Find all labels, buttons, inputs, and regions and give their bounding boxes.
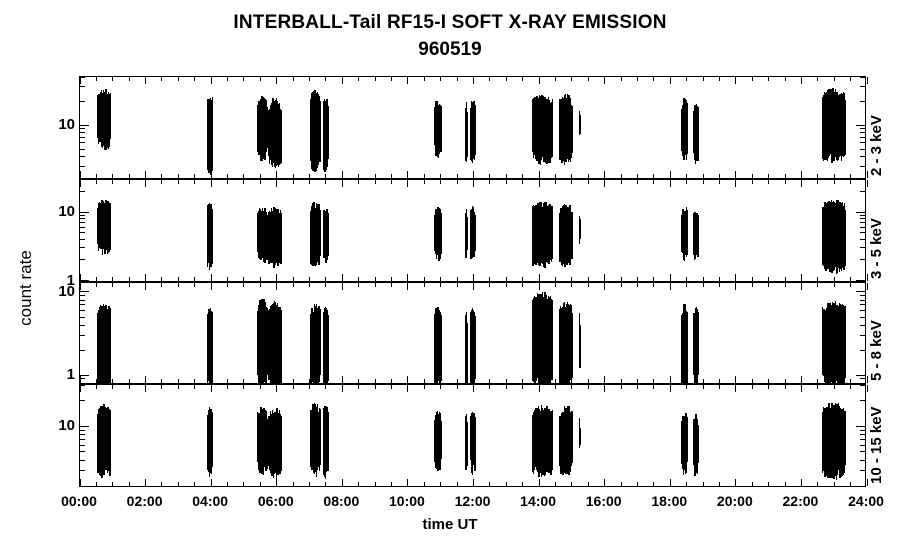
- x-minor-tick: [161, 379, 162, 383]
- x-minor-tick: [785, 77, 786, 81]
- x-major-tick: [539, 77, 540, 84]
- x-minor-tick: [243, 180, 244, 184]
- x-minor-tick: [309, 277, 310, 281]
- x-minor-tick: [522, 77, 523, 81]
- x-major-tick: [80, 171, 81, 178]
- x-minor-tick: [424, 385, 425, 389]
- x-major-tick: [670, 77, 671, 84]
- x-major-tick: [801, 283, 802, 290]
- x-minor-tick: [588, 283, 589, 287]
- x-major-tick: [211, 376, 212, 383]
- data-burst-core: [824, 415, 843, 457]
- x-major-tick: [407, 385, 408, 392]
- data-burst-core: [561, 106, 571, 145]
- x-major-tick: [735, 385, 736, 392]
- y-minor-tick: [860, 295, 865, 296]
- x-minor-tick: [489, 482, 490, 486]
- x-minor-tick: [178, 385, 179, 389]
- y-minor-tick: [80, 101, 85, 102]
- x-tick-label: 14:00: [520, 493, 556, 509]
- x-major-tick: [407, 180, 408, 187]
- x-minor-tick: [96, 482, 97, 486]
- x-minor-tick: [129, 277, 130, 281]
- y-minor-tick: [80, 385, 85, 386]
- y-minor-tick: [860, 232, 865, 233]
- y-major-tick: [856, 212, 865, 213]
- x-minor-tick: [391, 277, 392, 281]
- x-minor-tick: [555, 174, 556, 178]
- x-minor-tick: [686, 174, 687, 178]
- x-major-tick: [145, 171, 146, 178]
- x-minor-tick: [260, 277, 261, 281]
- data-sample: [571, 106, 572, 152]
- x-minor-tick: [96, 283, 97, 287]
- x-minor-tick: [555, 77, 556, 81]
- x-major-tick: [145, 274, 146, 281]
- data-sample: [571, 411, 572, 463]
- x-minor-tick: [621, 180, 622, 184]
- panel-3to5kev: 1103 - 5 keV: [79, 179, 866, 282]
- y-minor-tick: [80, 239, 85, 240]
- data-sample: [110, 96, 111, 137]
- x-major-tick: [276, 479, 277, 486]
- data-burst-core: [579, 119, 580, 120]
- x-minor-tick: [161, 277, 162, 281]
- x-minor-tick: [243, 77, 244, 81]
- x-minor-tick: [506, 379, 507, 383]
- x-minor-tick: [506, 482, 507, 486]
- x-minor-tick: [834, 174, 835, 178]
- x-major-tick: [276, 77, 277, 84]
- x-minor-tick: [227, 283, 228, 287]
- x-minor-tick: [686, 277, 687, 281]
- x-minor-tick: [161, 283, 162, 287]
- x-minor-tick: [686, 379, 687, 383]
- x-minor-tick: [686, 180, 687, 184]
- data-sample: [280, 416, 281, 471]
- x-minor-tick: [703, 379, 704, 383]
- x-minor-tick: [325, 385, 326, 389]
- energy-band-label: 2 - 3 keV: [868, 115, 885, 176]
- data-burst-core: [694, 114, 698, 144]
- x-minor-tick: [752, 77, 753, 81]
- y-minor-tick: [80, 451, 85, 452]
- x-minor-tick: [260, 283, 261, 287]
- data-sample: [552, 99, 553, 151]
- x-major-tick: [670, 171, 671, 178]
- y-major-tick: [856, 125, 865, 126]
- y-minor-tick: [80, 247, 85, 248]
- data-sample: [320, 309, 321, 376]
- x-minor-tick: [112, 283, 113, 287]
- y-minor-tick: [80, 378, 85, 379]
- x-major-tick: [407, 77, 408, 84]
- x-minor-tick: [834, 385, 835, 389]
- x-minor-tick: [391, 77, 392, 81]
- x-minor-tick: [719, 77, 720, 81]
- x-minor-tick: [719, 283, 720, 287]
- x-minor-tick: [703, 174, 704, 178]
- panel-2to3kev: 102 - 3 keV: [79, 76, 866, 179]
- y-minor-tick: [860, 215, 865, 216]
- x-major-tick: [801, 376, 802, 383]
- x-minor-tick: [260, 385, 261, 389]
- y-minor-tick: [860, 259, 865, 260]
- y-minor-tick: [860, 304, 865, 305]
- y-minor-tick: [860, 86, 865, 87]
- x-minor-tick: [489, 283, 490, 287]
- x-minor-tick: [850, 482, 851, 486]
- x-major-tick: [604, 180, 605, 187]
- x-minor-tick: [817, 379, 818, 383]
- x-minor-tick: [129, 385, 130, 389]
- data-burst-core: [534, 211, 551, 250]
- panel-canvas: [80, 283, 865, 384]
- x-minor-tick: [506, 180, 507, 184]
- x-minor-tick: [424, 174, 425, 178]
- x-major-tick: [604, 376, 605, 383]
- x-minor-tick: [834, 283, 835, 287]
- data-burst-core: [311, 101, 319, 152]
- data-burst-core: [323, 319, 328, 368]
- x-minor-tick: [785, 180, 786, 184]
- x-tick-label: 24:00: [848, 493, 884, 509]
- x-minor-tick: [817, 77, 818, 81]
- y-minor-tick: [80, 335, 85, 336]
- x-major-tick: [473, 171, 474, 178]
- data-sample: [579, 219, 580, 239]
- x-minor-tick: [358, 482, 359, 486]
- x-minor-tick: [424, 180, 425, 184]
- y-minor-tick: [860, 350, 865, 351]
- x-minor-tick: [293, 180, 294, 184]
- x-minor-tick: [161, 482, 162, 486]
- x-major-tick: [80, 385, 81, 392]
- x-tick-label: 04:00: [192, 493, 228, 509]
- x-minor-tick: [457, 379, 458, 383]
- x-minor-tick: [850, 385, 851, 389]
- figure-title: INTERBALL-Tail RF15-I SOFT X-RAY EMISSIO…: [0, 10, 900, 64]
- x-minor-tick: [506, 283, 507, 287]
- x-minor-tick: [375, 482, 376, 486]
- x-minor-tick: [621, 482, 622, 486]
- x-minor-tick: [309, 283, 310, 287]
- x-minor-tick: [391, 283, 392, 287]
- x-major-tick: [539, 283, 540, 290]
- x-minor-tick: [719, 385, 720, 389]
- x-minor-tick: [129, 180, 130, 184]
- x-minor-tick: [194, 385, 195, 389]
- x-minor-tick: [506, 77, 507, 81]
- data-sample: [280, 310, 281, 383]
- x-major-tick: [539, 274, 540, 281]
- x-minor-tick: [621, 277, 622, 281]
- x-minor-tick: [375, 379, 376, 383]
- x-major-tick: [867, 283, 868, 290]
- x-major-tick: [407, 376, 408, 383]
- x-minor-tick: [440, 180, 441, 184]
- data-burst-core: [435, 216, 441, 243]
- x-minor-tick: [637, 482, 638, 486]
- y-minor-tick: [80, 439, 85, 440]
- y-minor-tick: [860, 378, 865, 379]
- x-major-tick: [211, 274, 212, 281]
- data-burst-core: [207, 211, 212, 252]
- x-minor-tick: [375, 277, 376, 281]
- x-major-tick: [211, 180, 212, 187]
- data-burst-core: [682, 216, 687, 243]
- x-minor-tick: [178, 379, 179, 383]
- x-tick-label: 06:00: [258, 493, 294, 509]
- x-major-tick: [276, 274, 277, 281]
- data-burst-core: [258, 419, 266, 452]
- y-minor-tick: [860, 385, 865, 386]
- y-minor-tick: [80, 300, 85, 301]
- x-major-tick: [276, 385, 277, 392]
- data-burst-core: [824, 209, 843, 256]
- x-major-tick: [604, 385, 605, 392]
- x-minor-tick: [293, 277, 294, 281]
- y-axis-label: count rate: [16, 208, 36, 368]
- x-major-tick: [735, 171, 736, 178]
- y-minor-tick: [80, 227, 85, 228]
- x-minor-tick: [653, 174, 654, 178]
- x-minor-tick: [358, 385, 359, 389]
- plot-area: 102 - 3 keV1103 - 5 keV1105 - 8 keV1010 …: [79, 76, 866, 487]
- y-tick-label: 10: [58, 287, 75, 297]
- x-minor-tick: [309, 77, 310, 81]
- x-minor-tick: [96, 180, 97, 184]
- x-major-tick: [276, 180, 277, 187]
- data-burst-core: [534, 304, 551, 368]
- y-minor-tick: [80, 179, 85, 180]
- x-minor-tick: [440, 385, 441, 389]
- x-minor-tick: [375, 174, 376, 178]
- x-minor-tick: [243, 283, 244, 287]
- x-major-tick: [735, 77, 736, 84]
- x-major-tick: [407, 283, 408, 290]
- x-major-tick: [801, 77, 802, 84]
- x-minor-tick: [227, 174, 228, 178]
- x-minor-tick: [653, 180, 654, 184]
- x-minor-tick: [96, 277, 97, 281]
- x-minor-tick: [112, 174, 113, 178]
- x-minor-tick: [686, 77, 687, 81]
- x-major-tick: [407, 479, 408, 486]
- x-minor-tick: [112, 482, 113, 486]
- x-minor-tick: [489, 180, 490, 184]
- x-minor-tick: [571, 482, 572, 486]
- x-major-tick: [735, 376, 736, 383]
- x-tick-label: 10:00: [389, 493, 425, 509]
- x-major-tick: [342, 274, 343, 281]
- x-minor-tick: [785, 283, 786, 287]
- data-burst-core: [579, 428, 580, 432]
- data-burst-core: [694, 319, 698, 368]
- x-major-tick: [80, 283, 81, 290]
- data-burst-core: [258, 107, 266, 140]
- x-minor-tick: [457, 180, 458, 184]
- x-minor-tick: [391, 379, 392, 383]
- x-tick-label: 16:00: [586, 493, 622, 509]
- x-minor-tick: [112, 180, 113, 184]
- x-minor-tick: [227, 180, 228, 184]
- data-burst-core: [465, 217, 467, 241]
- x-minor-tick: [817, 482, 818, 486]
- data-burst-core: [207, 106, 212, 155]
- x-minor-tick: [129, 77, 130, 81]
- x-minor-tick: [850, 283, 851, 287]
- figure-title-line2: 960519: [0, 36, 900, 64]
- x-minor-tick: [440, 77, 441, 81]
- x-minor-tick: [194, 379, 195, 383]
- y-minor-tick: [80, 304, 85, 305]
- x-minor-tick: [522, 385, 523, 389]
- y-minor-tick: [80, 218, 85, 219]
- x-minor-tick: [834, 482, 835, 486]
- x-major-tick: [342, 479, 343, 486]
- y-minor-tick: [860, 156, 865, 157]
- x-major-tick: [867, 180, 868, 187]
- y-minor-tick: [80, 434, 85, 435]
- x-major-tick: [80, 180, 81, 187]
- data-burst-core: [270, 216, 280, 250]
- x-minor-tick: [375, 77, 376, 81]
- x-minor-tick: [817, 385, 818, 389]
- x-minor-tick: [686, 482, 687, 486]
- x-minor-tick: [817, 180, 818, 184]
- x-major-tick: [342, 376, 343, 383]
- x-minor-tick: [752, 385, 753, 389]
- x-major-tick: [801, 385, 802, 392]
- y-minor-tick: [860, 486, 865, 487]
- x-minor-tick: [506, 174, 507, 178]
- x-major-tick: [867, 77, 868, 84]
- x-minor-tick: [194, 482, 195, 486]
- x-minor-tick: [571, 77, 572, 81]
- data-sample: [280, 213, 281, 264]
- x-major-tick: [539, 376, 540, 383]
- x-minor-tick: [571, 180, 572, 184]
- x-tick-label: 00:00: [61, 493, 97, 509]
- x-minor-tick: [817, 277, 818, 281]
- x-major-tick: [211, 171, 212, 178]
- data-sample: [110, 205, 111, 248]
- data-burst-core: [561, 313, 571, 368]
- x-minor-tick: [309, 174, 310, 178]
- y-major-tick: [80, 375, 89, 376]
- x-minor-tick: [391, 385, 392, 389]
- x-minor-tick: [752, 482, 753, 486]
- x-minor-tick: [161, 174, 162, 178]
- x-minor-tick: [161, 77, 162, 81]
- y-minor-tick: [80, 445, 85, 446]
- x-minor-tick: [440, 174, 441, 178]
- x-minor-tick: [325, 482, 326, 486]
- x-minor-tick: [129, 174, 130, 178]
- x-minor-tick: [227, 482, 228, 486]
- y-minor-tick: [80, 232, 85, 233]
- y-minor-tick: [860, 239, 865, 240]
- data-burst-core: [207, 319, 212, 368]
- x-minor-tick: [178, 180, 179, 184]
- x-minor-tick: [571, 277, 572, 281]
- x-minor-tick: [522, 379, 523, 383]
- x-minor-tick: [555, 180, 556, 184]
- x-major-tick: [801, 274, 802, 281]
- y-minor-tick: [860, 227, 865, 228]
- y-minor-tick: [860, 77, 865, 78]
- x-major-tick: [276, 171, 277, 178]
- data-sample: [280, 110, 281, 163]
- x-minor-tick: [703, 277, 704, 281]
- x-major-tick: [211, 479, 212, 486]
- x-minor-tick: [752, 379, 753, 383]
- x-minor-tick: [785, 482, 786, 486]
- x-minor-tick: [686, 385, 687, 389]
- x-major-tick: [145, 77, 146, 84]
- x-major-tick: [80, 77, 81, 84]
- data-burst-core: [258, 310, 266, 367]
- x-minor-tick: [817, 174, 818, 178]
- x-minor-tick: [506, 277, 507, 281]
- y-minor-tick: [80, 149, 85, 150]
- x-major-tick: [342, 180, 343, 187]
- x-minor-tick: [112, 277, 113, 281]
- data-sample: [844, 411, 845, 465]
- data-sample: [844, 100, 845, 155]
- x-minor-tick: [850, 174, 851, 178]
- x-minor-tick: [424, 379, 425, 383]
- x-minor-tick: [719, 174, 720, 178]
- x-major-tick: [276, 376, 277, 383]
- x-minor-tick: [621, 174, 622, 178]
- x-minor-tick: [489, 385, 490, 389]
- x-major-tick: [342, 171, 343, 178]
- data-burst-core: [270, 419, 280, 457]
- y-minor-tick: [860, 335, 865, 336]
- x-minor-tick: [309, 180, 310, 184]
- x-tick-label: 22:00: [783, 493, 819, 509]
- x-minor-tick: [358, 283, 359, 287]
- x-minor-tick: [457, 277, 458, 281]
- panel-5to8kev: 1105 - 8 keV: [79, 282, 866, 385]
- x-minor-tick: [129, 482, 130, 486]
- y-tick-label: 10: [58, 120, 75, 130]
- x-minor-tick: [194, 174, 195, 178]
- x-minor-tick: [555, 379, 556, 383]
- x-minor-tick: [457, 283, 458, 287]
- x-major-tick: [276, 283, 277, 290]
- y-minor-tick: [80, 430, 85, 431]
- x-major-tick: [145, 283, 146, 290]
- x-minor-tick: [243, 379, 244, 383]
- x-minor-tick: [440, 277, 441, 281]
- x-tick-label: 12:00: [455, 493, 491, 509]
- y-minor-tick: [860, 439, 865, 440]
- y-minor-tick: [80, 470, 85, 471]
- y-minor-tick: [80, 128, 85, 129]
- x-minor-tick: [850, 379, 851, 383]
- x-minor-tick: [768, 180, 769, 184]
- x-minor-tick: [489, 174, 490, 178]
- x-minor-tick: [293, 379, 294, 383]
- x-minor-tick: [178, 277, 179, 281]
- data-burst-core: [270, 109, 280, 148]
- x-major-tick: [211, 385, 212, 392]
- data-burst-core: [579, 224, 580, 229]
- x-minor-tick: [489, 277, 490, 281]
